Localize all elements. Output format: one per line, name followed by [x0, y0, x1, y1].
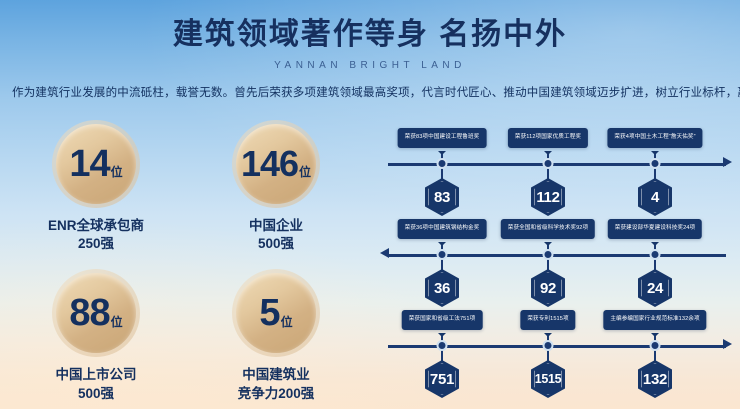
award-label: 荣获112项国家优质工程奖	[508, 128, 588, 148]
coin-face: 146 位	[236, 124, 316, 204]
award-badge: 24	[638, 269, 672, 307]
award-label: 荣获4项中国土木工程“詹天佑奖”	[607, 128, 702, 148]
stat-label-line1: 中国企业	[249, 218, 303, 233]
stat-item: 88 位 中国上市公司 500强	[6, 269, 186, 402]
stat-coin: 88 位	[52, 269, 140, 357]
stats-grid: 14 位 ENR全球承包商 250强 146 位	[6, 120, 366, 403]
stat-coin: 146 位	[232, 120, 320, 208]
node-marker-icon	[543, 249, 554, 260]
node-marker-icon	[437, 249, 448, 260]
award-badge: 112	[531, 178, 565, 216]
award-badge: 132	[638, 360, 672, 398]
stat-coin: 5 位	[232, 269, 320, 357]
badge-count: 751	[430, 371, 454, 388]
timeline-row: 荣获36项中国建筑钢结构金奖 36 荣获全国和省级科学技术奖92项 92	[380, 217, 732, 308]
badge-count: 132	[643, 371, 667, 388]
coin-face: 5 位	[236, 273, 316, 353]
stat-unit: 位	[281, 316, 293, 328]
award-badge: 36	[425, 269, 459, 307]
badge-count: 92	[540, 280, 556, 297]
node-marker-icon	[437, 340, 448, 351]
badge-count: 36	[434, 280, 450, 297]
arrow-right-icon	[723, 157, 732, 167]
stat-value: 88	[69, 296, 109, 331]
node-marker-icon	[650, 249, 661, 260]
award-label: 主编参编国家行业规范标准132余项	[603, 310, 706, 330]
stat-item: 146 位 中国企业 500强	[186, 120, 366, 253]
badge-count: 4	[651, 189, 659, 206]
stat-label-line2: 500强	[249, 235, 303, 253]
arrow-left-icon	[380, 248, 389, 258]
stat-value: 5	[259, 296, 279, 331]
stat-label-line1: 中国上市公司	[56, 367, 137, 382]
promo-banner: 建筑领域著作等身 名扬中外 YANNAN BRIGHT LAND 作为建筑行业发…	[0, 0, 740, 409]
stat-label-line1: 中国建筑业	[242, 367, 310, 382]
award-label: 荣获建设部华夏建设科技奖24项	[608, 219, 702, 239]
node-marker-icon	[543, 158, 554, 169]
award-badge: 1515	[531, 360, 565, 398]
badge-count: 1515	[535, 372, 562, 386]
stat-label-line1: ENR全球承包商	[48, 218, 144, 233]
award-badge: 92	[531, 269, 565, 307]
stat-item: 14 位 ENR全球承包商 250强	[6, 120, 186, 253]
node-marker-icon	[543, 340, 554, 351]
coin-face: 88 位	[56, 273, 136, 353]
award-label: 荣获专利1515项	[520, 310, 575, 330]
banner-header: 建筑领域著作等身 名扬中外 YANNAN BRIGHT LAND	[0, 0, 740, 71]
node-marker-icon	[650, 340, 661, 351]
arrow-right-icon	[723, 339, 732, 349]
page-description: 作为建筑行业发展的中流砥柱，载誉无数。曾先后荣获多项建筑领域最高奖项，代言时代匠…	[12, 84, 728, 100]
award-badge: 4	[638, 178, 672, 216]
page-title: 建筑领域著作等身 名扬中外	[0, 0, 740, 54]
award-label: 荣获国家和省级工法751项	[402, 310, 483, 330]
stat-value: 14	[69, 147, 109, 182]
stat-label: 中国建筑业 竞争力200强	[238, 366, 315, 402]
badge-count: 112	[536, 189, 559, 206]
stat-label-line2: 500强	[56, 385, 137, 403]
stat-item: 5 位 中国建筑业 竞争力200强	[186, 269, 366, 402]
stat-value: 146	[241, 147, 298, 180]
coin-face: 14 位	[56, 124, 136, 204]
stat-label: ENR全球承包商 250强	[48, 217, 144, 253]
award-badge: 83	[425, 178, 459, 216]
badge-count: 24	[647, 280, 663, 297]
award-label: 荣获36项中国建筑钢结构金奖	[398, 219, 487, 239]
stat-unit: 位	[299, 166, 311, 178]
stat-unit: 位	[111, 316, 123, 328]
award-label: 荣获全国和省级科学技术奖92项	[501, 219, 595, 239]
stat-coin: 14 位	[52, 120, 140, 208]
awards-timeline: 荣获83项中国建设工程鲁班奖 83 荣获112项国家优质工程奖 112	[380, 126, 732, 399]
node-marker-icon	[437, 158, 448, 169]
stat-label: 中国企业 500强	[249, 217, 303, 253]
page-subtitle: YANNAN BRIGHT LAND	[0, 60, 740, 71]
award-label: 荣获83项中国建设工程鲁班奖	[398, 128, 487, 148]
timeline-row: 荣获83项中国建设工程鲁班奖 83 荣获112项国家优质工程奖 112	[380, 126, 732, 217]
stat-label-line2: 250强	[48, 235, 144, 253]
node-marker-icon	[650, 158, 661, 169]
stat-label-line2: 竞争力200强	[238, 385, 315, 403]
badge-count: 83	[434, 189, 450, 206]
award-badge: 751	[425, 360, 459, 398]
stat-label: 中国上市公司 500强	[56, 366, 137, 402]
timeline-row: 荣获国家和省级工法751项 751 荣获专利1515项 1515	[380, 308, 732, 399]
stat-unit: 位	[111, 166, 123, 178]
